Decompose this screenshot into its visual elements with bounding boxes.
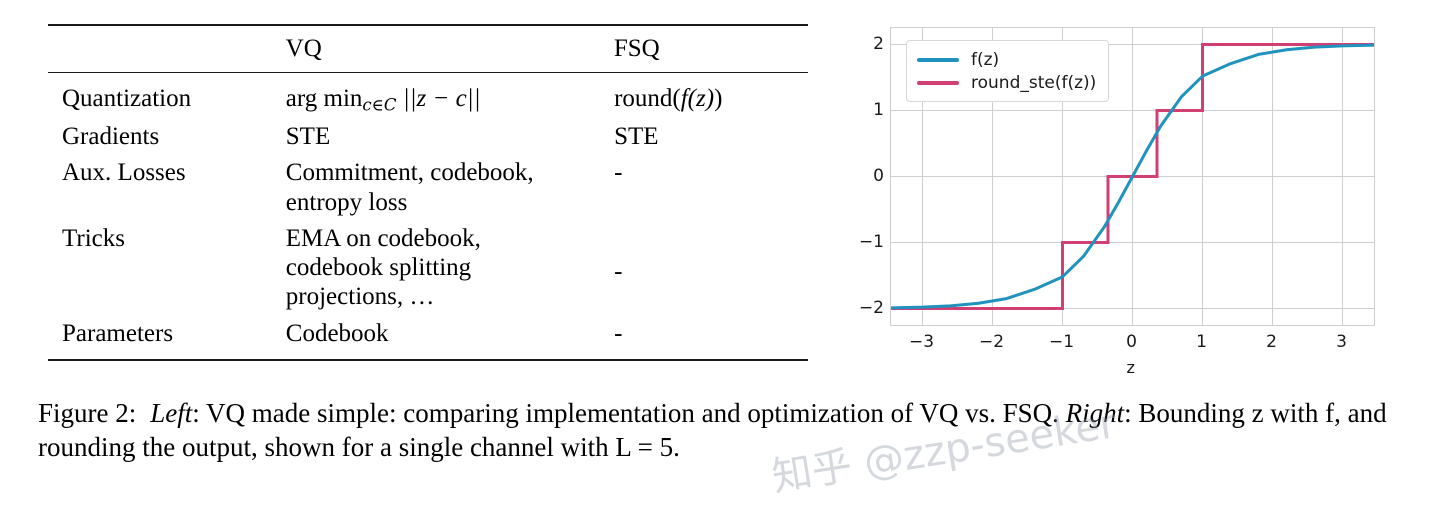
- column-header-blank: [48, 26, 286, 72]
- cell-vq-tricks: EMA on codebook, codebook splitting proj…: [286, 217, 614, 312]
- x-tick-label: −1: [1049, 332, 1074, 352]
- table-row: Gradients STE STE: [48, 115, 808, 151]
- column-header-fsq: FSQ: [614, 26, 808, 72]
- row-label-tricks: Tricks: [48, 217, 286, 312]
- tricks-line-2: codebook splitting: [286, 253, 614, 282]
- row-label-gradients: Gradients: [48, 115, 286, 151]
- y-tick-label: 1: [873, 100, 884, 120]
- cell-fsq-gradients: STE: [614, 115, 808, 151]
- aux-losses-line-2: entropy loss: [286, 188, 614, 217]
- table-row: Parameters Codebook -: [48, 312, 808, 359]
- row-label-aux-losses: Aux. Losses: [48, 151, 286, 217]
- comparison-table-container: VQ FSQ Quantization arg minc∈C ||z − c||…: [48, 24, 808, 361]
- figure-label: Figure 2:: [38, 398, 136, 428]
- legend-item-round-ste: round_ste(f(z)): [917, 71, 1096, 94]
- table-header-row: VQ FSQ: [48, 26, 808, 72]
- x-axis-label: z: [1127, 358, 1135, 377]
- x-tick-label: −3: [909, 332, 934, 352]
- cell-vq-parameters: Codebook: [286, 312, 614, 359]
- cell-fsq-parameters: -: [614, 312, 808, 359]
- round-function: round: [614, 85, 672, 112]
- row-label-parameters: Parameters: [48, 312, 286, 359]
- round-argument: f(z): [681, 85, 714, 112]
- legend-item-fz: f(z): [917, 48, 1096, 71]
- legend-label-fz: f(z): [971, 50, 999, 70]
- bounding-function-chart: −2−1012−3−2−10123 z f(z) round_ste(f(z)): [838, 8, 1398, 388]
- x-tick-label: 3: [1336, 332, 1347, 352]
- table-bottom-rule: [48, 359, 808, 361]
- caption-right-tag: Right: [1066, 398, 1125, 428]
- table-body: Quantization arg minc∈C ||z − c|| round(…: [48, 73, 808, 359]
- table-row: Aux. Losses Commitment, codebook, entrop…: [48, 151, 808, 217]
- tricks-line-1: EMA on codebook,: [286, 224, 614, 253]
- column-header-vq: VQ: [286, 26, 614, 72]
- caption-left-tag: Left: [150, 398, 192, 428]
- x-tick-label: −2: [979, 332, 1004, 352]
- y-tick-label: 0: [873, 166, 884, 186]
- cell-vq-aux-losses: Commitment, codebook, entropy loss: [286, 151, 614, 217]
- y-tick-label: −2: [859, 298, 884, 318]
- table-header: VQ FSQ: [48, 26, 808, 72]
- y-tick-label: −1: [859, 232, 884, 252]
- chart-legend: f(z) round_ste(f(z)): [906, 40, 1109, 102]
- x-tick-label: 1: [1196, 332, 1207, 352]
- fsq-tricks-dash: -: [614, 224, 808, 286]
- x-tick-label: 0: [1126, 332, 1137, 352]
- legend-label-round-ste: round_ste(f(z)): [971, 73, 1096, 93]
- cell-fsq-aux-losses: -: [614, 151, 808, 217]
- row-label-quantization: Quantization: [48, 73, 286, 115]
- aux-losses-line-1: Commitment, codebook,: [286, 158, 614, 187]
- legend-swatch-fz: [917, 58, 959, 62]
- vq-fsq-comparison-body: Quantization arg minc∈C ||z − c|| round(…: [48, 73, 808, 359]
- table-row: Quantization arg minc∈C ||z − c|| round(…: [48, 73, 808, 115]
- cell-fsq-tricks: -: [614, 217, 808, 312]
- vq-fsq-comparison-table: VQ FSQ: [48, 26, 808, 72]
- cell-vq-gradients: STE: [286, 115, 614, 151]
- figure-caption: Figure 2:Left: VQ made simple: comparing…: [38, 396, 1410, 465]
- table-row: Tricks EMA on codebook, codebook splitti…: [48, 217, 808, 312]
- cell-fsq-quantization: round(f(z)): [614, 73, 808, 115]
- caption-left-text: : VQ made simple: comparing implementati…: [192, 398, 1059, 428]
- argmin-operator: arg min: [286, 85, 363, 112]
- norm-expression: ||z − c||: [403, 85, 481, 112]
- y-tick-label: 2: [873, 34, 884, 54]
- cell-vq-quantization: arg minc∈C ||z − c||: [286, 73, 614, 115]
- argmin-subscript: c∈C: [362, 96, 396, 115]
- legend-swatch-round-ste: [917, 81, 959, 85]
- tricks-line-3: projections, …: [286, 282, 614, 311]
- x-tick-label: 2: [1266, 332, 1277, 352]
